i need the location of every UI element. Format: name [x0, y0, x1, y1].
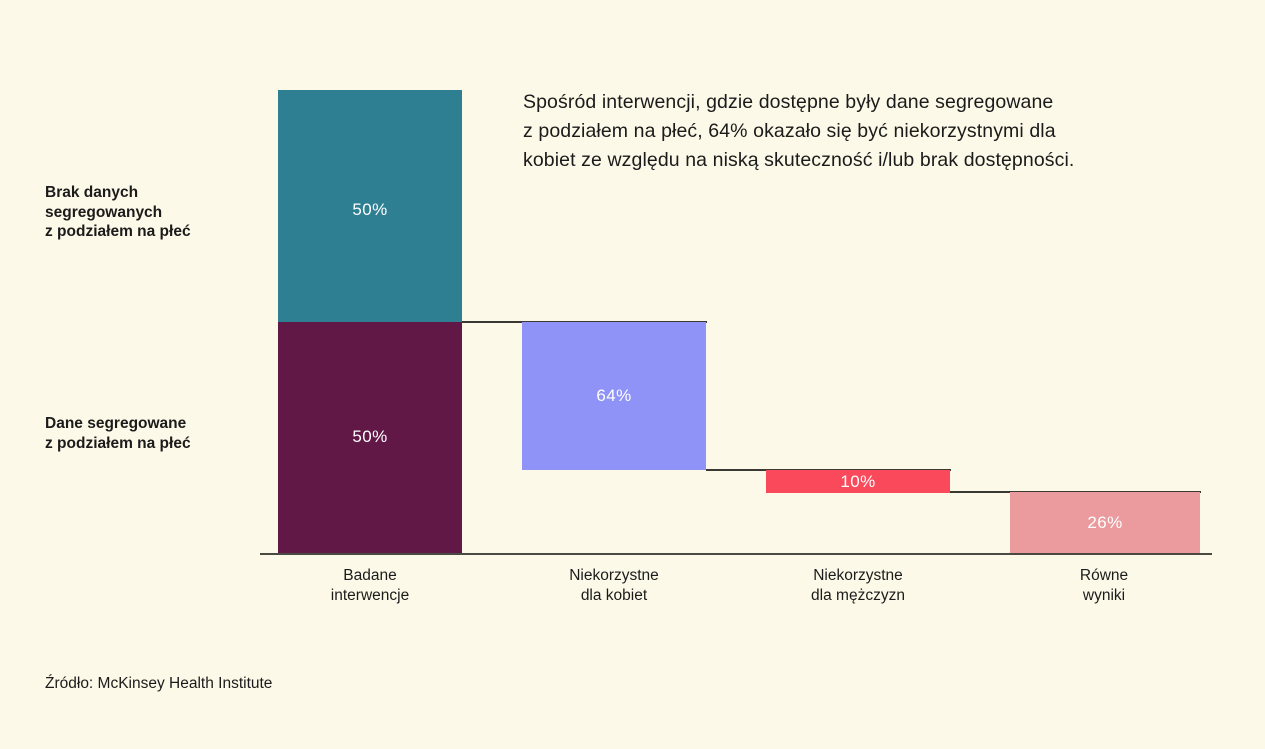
xtick-badane-interwencje: Badane interwencje [280, 566, 460, 606]
source-note: Źródło: McKinsey Health Institute [45, 675, 272, 693]
bar-value-with-data: 50% [278, 427, 462, 447]
xtick-0-line-1: Badane [280, 566, 460, 586]
xtick-rowne-wyniki: Równe wyniki [1013, 566, 1195, 606]
xtick-0-line-2: interwencje [280, 586, 460, 606]
bar-unfavourable-women[interactable]: 64% [522, 322, 706, 470]
xtick-niekorzystne-dla-kobiet: Niekorzystne dla kobiet [524, 566, 704, 606]
xtick-1-line-1: Niekorzystne [524, 566, 704, 586]
bar-value-unfavourable-women: 64% [522, 386, 706, 406]
chart-canvas: Spośród interwencji, gdzie dostępne były… [0, 0, 1265, 749]
xtick-2-line-1: Niekorzystne [768, 566, 948, 586]
bar-value-unfavourable-men: 10% [766, 472, 950, 492]
axis-baseline [260, 553, 1212, 555]
bar-unfavourable-men[interactable]: 10% [766, 470, 950, 493]
bar-value-equal-outcomes: 26% [1010, 513, 1200, 533]
bar-segment-no-data[interactable]: 50% [278, 90, 462, 322]
xtick-niekorzystne-dla-mezczyzn: Niekorzystne dla mężczyzn [768, 566, 948, 606]
xtick-3-line-1: Równe [1013, 566, 1195, 586]
xtick-2-line-2: dla mężczyzn [768, 586, 948, 606]
plot-area: 50% 50% 64% 10% 26% [0, 0, 1265, 620]
bar-value-no-data: 50% [278, 200, 462, 220]
bar-equal-outcomes[interactable]: 26% [1010, 492, 1200, 553]
bar-segment-with-data[interactable]: 50% [278, 322, 462, 553]
xtick-3-line-2: wyniki [1013, 586, 1195, 606]
xtick-1-line-2: dla kobiet [524, 586, 704, 606]
